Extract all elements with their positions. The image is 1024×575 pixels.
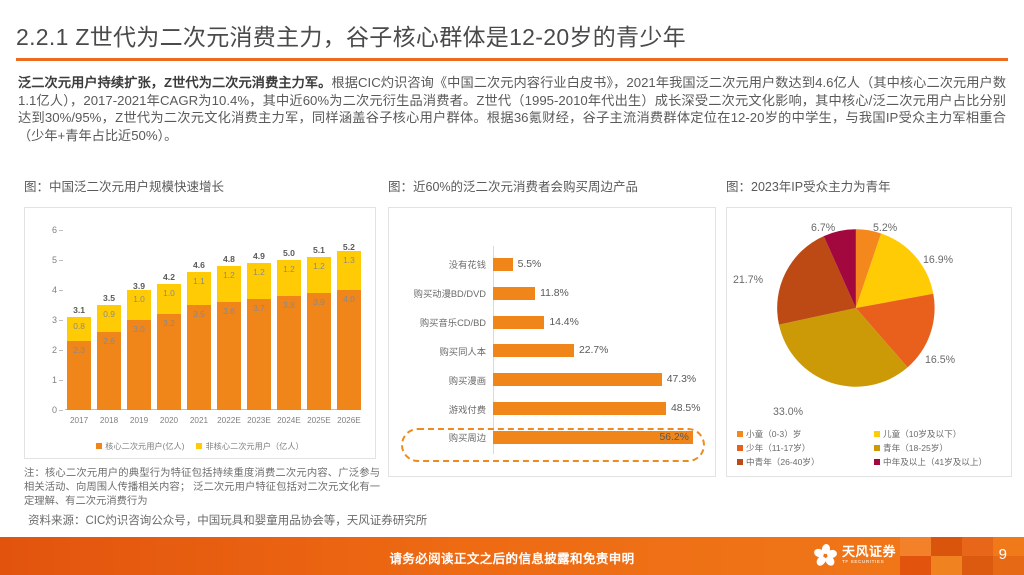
chart-panel-spending-behavior: 图：近60%的泛二次元消费者会购买周边产品 没有花钱5.5%购买动漫BD/DVD… [388, 176, 716, 477]
legend-swatch-icon [737, 445, 743, 451]
chart1-segment-noncore: 1.2 [247, 263, 271, 299]
pie-data-label: 5.2% [873, 222, 897, 234]
chart1-segment-core: 3.8 [277, 296, 301, 410]
chart1-column: 3.10.82.3 [67, 230, 91, 410]
chart2-row: 购买同人本22.7% [397, 337, 707, 366]
chart2-value-label: 5.5% [518, 259, 542, 270]
chart1-segment-label: 1.2 [253, 267, 265, 277]
chart1-x-label: 2026E [337, 416, 361, 430]
chart1-x-label: 2018 [97, 416, 121, 430]
chart1-column: 5.11.23.9 [307, 230, 331, 410]
chart2-bar [493, 258, 513, 271]
chart1-segment-label: 2.3 [73, 345, 85, 384]
chart2-value-label: 22.7% [579, 345, 608, 356]
chart1-x-label: 2023E [247, 416, 271, 430]
chart1-segment-label: 1.1 [193, 276, 205, 286]
chart1-column: 4.91.23.7 [247, 230, 271, 410]
chart3-legend-label: 青年（18-25岁） [883, 442, 948, 454]
chart3-legend-label: 少年（11-17岁） [746, 442, 810, 454]
chart2-row-label: 购买音乐CD/BD [397, 315, 493, 329]
chart1-segment-label: 2.6 [103, 336, 115, 380]
chart1-legend-label: 非核心二次元用户（亿人） [205, 440, 303, 452]
chart1-column: 3.50.92.6 [97, 230, 121, 410]
chart1-note: 注：核心二次元用户的典型行为特征包括持续重度消费二次元内容、广泛参与相关活动、向… [24, 467, 380, 509]
chart3-legend-item: 小童（0-3）岁 [737, 428, 868, 440]
chart2-bar-track: 14.4% [493, 308, 707, 337]
chart2-row-label: 游戏付费 [397, 402, 493, 416]
chart1-segment-label: 3.7 [253, 303, 265, 368]
chart2-value-label: 11.8% [540, 288, 569, 299]
chart1-total-label: 4.9 [253, 251, 265, 261]
chart1-segment-core: 2.6 [97, 332, 121, 410]
slide: 2.2.1 Z世代为二次元消费主力，谷子核心群体是12-20岁的青少年 泛二次元… [0, 0, 1024, 575]
chart1-y-tick: 6 [52, 225, 57, 235]
chart1-column: 5.21.34.0 [337, 230, 361, 410]
chart1-segment-noncore: 1.2 [277, 260, 301, 296]
chart1-x-label: 2025E [307, 416, 331, 430]
chart2-row: 购买漫画47.3% [397, 365, 707, 394]
flower-logo-icon [815, 544, 837, 566]
chart1-segment-label: 4.0 [343, 294, 355, 364]
chart1-legend-item: 核心二次元用户(亿人) [96, 440, 184, 452]
pie-data-label: 6.7% [811, 222, 835, 234]
chart1-segment-label: 1.2 [283, 264, 295, 274]
chart1-segment-label: 1.3 [343, 255, 355, 265]
chart2-bar-track: 11.8% [493, 279, 707, 308]
chart1-segment-label: 3.0 [133, 324, 145, 376]
chart2-rows: 没有花钱5.5%购买动漫BD/DVD11.8%购买音乐CD/BD14.4%购买同… [397, 250, 707, 452]
chart2-bar-track: 48.5% [493, 394, 707, 423]
chart2-bar [493, 402, 666, 415]
body-paragraph: 泛二次元用户持续扩张，Z世代为二次元消费主力军。根据CIC灼识咨询《中国二次元内… [18, 74, 1006, 144]
chart1-segment-label: 3.6 [223, 306, 235, 369]
chart2-bar [493, 344, 574, 357]
chart1-title: 图：中国泛二次元用户规模快速增长 [24, 176, 376, 195]
chart1-y-tick: 3 [52, 315, 57, 325]
chart1-segment-noncore: 1.0 [157, 284, 181, 314]
chart1-segment-noncore: 1.2 [217, 266, 241, 302]
pie-chart-svg [774, 226, 938, 390]
chart1-segment-noncore: 1.3 [337, 251, 361, 290]
chart1-y-axis: 0123456 [25, 230, 65, 410]
legend-swatch-icon [874, 445, 880, 451]
chart1-columns: 3.10.82.33.50.92.63.91.03.04.21.03.24.61… [67, 230, 361, 410]
pie-data-label: 16.9% [923, 254, 953, 266]
page-number: 9 [999, 546, 1007, 563]
chart3-legend-label: 儿童（10岁及以下） [883, 428, 961, 440]
chart1-segment-label: 0.9 [103, 309, 115, 319]
chart2-bar [493, 316, 544, 329]
chart1-x-label: 2019 [127, 416, 151, 430]
chart1-total-label: 5.1 [313, 245, 325, 255]
chart1-column: 5.01.23.8 [277, 230, 301, 410]
chart1-column: 3.91.03.0 [127, 230, 151, 410]
chart1-segment-core: 3.2 [157, 314, 181, 410]
chart1-y-tick: 2 [52, 345, 57, 355]
chart2-row-label: 购买漫画 [397, 373, 493, 387]
chart1-legend-item: 非核心二次元用户（亿人） [196, 440, 303, 452]
chart1-segment-label: 1.2 [223, 270, 235, 280]
body-lead: 泛二次元用户持续扩张，Z世代为二次元消费主力军。 [18, 75, 331, 90]
chart1-x-label: 2017 [67, 416, 91, 430]
chart-panel-ip-audience: 图：2023年IP受众主力为青年 5.2%16.9%16.5%33.0%21.7… [726, 176, 1012, 477]
chart2-value-label: 14.4% [549, 317, 578, 328]
chart2-plot-area: 没有花钱5.5%购买动漫BD/DVD11.8%购买音乐CD/BD14.4%购买同… [388, 207, 716, 477]
chart1-legend: 核心二次元用户(亿人)非核心二次元用户（亿人） [25, 440, 375, 452]
chart1-segment-core: 3.0 [127, 320, 151, 410]
chart1-x-label: 2024E [277, 416, 301, 430]
chart1-x-label: 2020 [157, 416, 181, 430]
logo-name-en: TF SECURITIES [842, 560, 896, 565]
chart1-segment-core: 3.5 [187, 305, 211, 410]
chart1-column: 4.61.13.5 [187, 230, 211, 410]
chart1-column: 4.81.23.6 [217, 230, 241, 410]
pie-data-label: 16.5% [925, 354, 955, 366]
chart3-plot-area: 5.2%16.9%16.5%33.0%21.7%6.7% 小童（0-3）岁儿童（… [726, 207, 1012, 477]
chart2-row: 购买动漫BD/DVD11.8% [397, 279, 707, 308]
chart1-total-label: 3.1 [73, 305, 85, 315]
chart2-row: 游戏付费48.5% [397, 394, 707, 423]
chart1-x-label: 2021 [187, 416, 211, 430]
page-title: 2.2.1 Z世代为二次元消费主力，谷子核心群体是12-20岁的青少年 [16, 18, 686, 52]
pie-data-label: 33.0% [773, 406, 803, 418]
chart1-segment-label: 1.2 [313, 261, 325, 271]
chart2-bar-track: 47.3% [493, 365, 707, 394]
chart2-row: 没有花钱5.5% [397, 250, 707, 279]
chart1-x-label: 2022E [217, 416, 241, 430]
legend-swatch-icon [874, 459, 880, 465]
chart1-total-label: 5.0 [283, 248, 295, 258]
footer-bar: 请务必阅读正文之后的信息披露和免责申明 天风证券 TF SECURITIES 9 [0, 537, 1024, 575]
chart3-legend-item: 中年及以上（41岁及以上） [874, 456, 1005, 468]
chart1-segment-core: 4.0 [337, 290, 361, 410]
legend-swatch-icon [737, 459, 743, 465]
chart1-segment-label: 3.8 [283, 300, 295, 367]
chart1-segment-noncore: 1.1 [187, 272, 211, 305]
chart3-legend: 小童（0-3）岁儿童（10岁及以下）少年（11-17岁）青年（18-25岁）中青… [737, 428, 1005, 468]
chart2-row-label: 没有花钱 [397, 257, 493, 271]
chart1-y-tick: 4 [52, 285, 57, 295]
pie-data-label: 21.7% [733, 274, 763, 286]
chart2-bar [493, 287, 535, 300]
chart3-legend-item: 青年（18-25岁） [874, 442, 1005, 454]
logo-name-cn: 天风证券 [842, 545, 896, 558]
chart2-title: 图：近60%的泛二次元消费者会购买周边产品 [388, 176, 716, 195]
chart2-row: 购买音乐CD/BD14.4% [397, 308, 707, 337]
legend-swatch-icon [737, 431, 743, 437]
chart1-segment-noncore: 0.8 [67, 317, 91, 341]
chart3-title: 图：2023年IP受众主力为青年 [726, 176, 1012, 195]
chart1-segment-noncore: 1.0 [127, 290, 151, 320]
chart1-segment-core: 3.6 [217, 302, 241, 410]
chart2-value-label: 47.3% [667, 374, 696, 385]
chart1-segment-core: 3.9 [307, 293, 331, 410]
chart1-segment-noncore: 0.9 [97, 305, 121, 332]
chart2-bar [493, 373, 662, 386]
chart1-segment-core: 2.3 [67, 341, 91, 410]
logo-text: 天风证券 TF SECURITIES [842, 545, 896, 565]
chart2-row-label: 购买同人本 [397, 344, 493, 358]
legend-swatch-icon [196, 443, 202, 449]
title-divider [16, 58, 1008, 61]
chart1-segment-noncore: 1.2 [307, 257, 331, 293]
chart1-segment-label: 3.2 [163, 318, 175, 374]
chart2-value-label: 48.5% [671, 403, 700, 414]
chart3-legend-label: 中年及以上（41岁及以上） [883, 456, 987, 468]
chart2-bar-track: 5.5% [493, 250, 707, 279]
chart1-total-label: 4.6 [193, 260, 205, 270]
chart1-total-label: 4.2 [163, 272, 175, 282]
chart1-plot-area: 0123456 3.10.82.33.50.92.63.91.03.04.21.… [24, 207, 376, 459]
legend-swatch-icon [96, 443, 102, 449]
chart1-y-tick: 0 [52, 405, 57, 415]
chart1-legend-label: 核心二次元用户(亿人) [105, 440, 184, 452]
chart1-segment-label: 1.0 [163, 288, 175, 298]
chart1-total-label: 4.8 [223, 254, 235, 264]
chart1-segment-core: 3.7 [247, 299, 271, 410]
source-note: 资料来源：CIC灼识咨询公众号，中国玩具和婴童用品协会等，天风证券研究所 [28, 512, 427, 528]
chart3-legend-item: 少年（11-17岁） [737, 442, 868, 454]
chart1-segment-label: 3.9 [313, 297, 325, 366]
chart1-x-labels: 201720182019202020212022E2023E2024E2025E… [67, 416, 361, 430]
chart2-value-label: 56.2% [659, 432, 688, 443]
chart1-y-tick: 1 [52, 375, 57, 385]
chart3-legend-label: 中青年（26-40岁） [746, 456, 820, 468]
chart2-bar-track: 22.7% [493, 337, 707, 366]
chart3-legend-item: 儿童（10岁及以下） [874, 428, 1005, 440]
company-logo: 天风证券 TF SECURITIES [815, 544, 896, 566]
legend-swatch-icon [874, 431, 880, 437]
chart3-pie-wrap: 5.2%16.9%16.5%33.0%21.7%6.7% [727, 226, 1011, 406]
chart1-total-label: 3.5 [103, 293, 115, 303]
chart1-segment-label: 0.8 [73, 321, 85, 331]
chart1-column: 4.21.03.2 [157, 230, 181, 410]
chart1-segment-label: 1.0 [133, 294, 145, 304]
chart1-segment-label: 3.5 [193, 309, 205, 370]
chart3-legend-label: 小童（0-3）岁 [746, 428, 801, 440]
chart2-row-label: 购买动漫BD/DVD [397, 286, 493, 300]
chart3-legend-item: 中青年（26-40岁） [737, 456, 868, 468]
chart1-y-tick: 5 [52, 255, 57, 265]
chart-panel-user-scale: 图：中国泛二次元用户规模快速增长 0123456 3.10.82.33.50.9… [24, 176, 376, 509]
